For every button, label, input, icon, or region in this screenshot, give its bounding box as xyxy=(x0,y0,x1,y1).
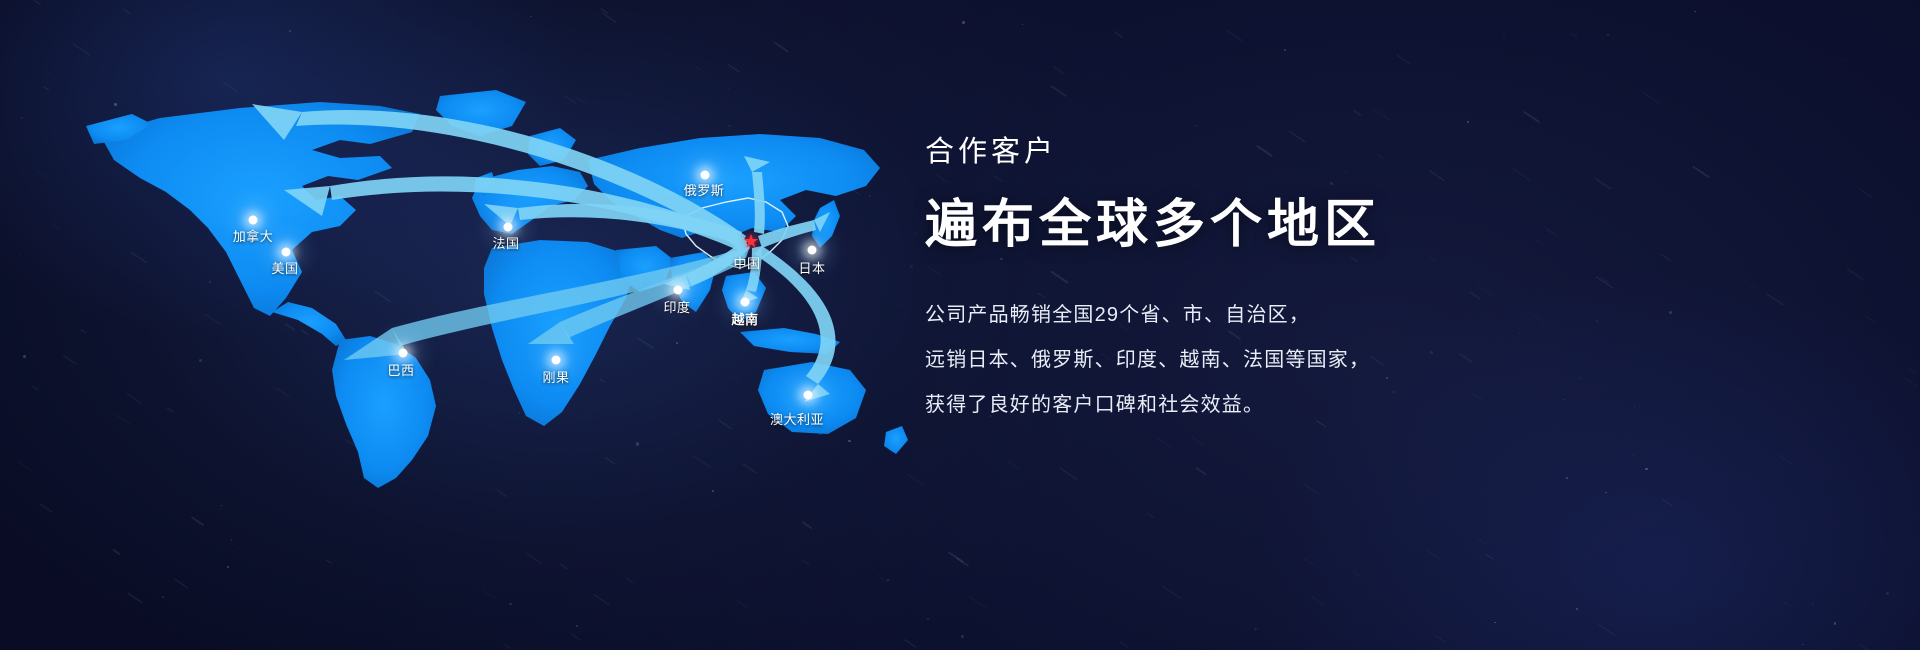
map-label-china: 中国 xyxy=(733,253,760,272)
page-title: 遍布全球多个地区 xyxy=(925,182,1825,257)
star-streak xyxy=(1053,65,1065,74)
star-streak xyxy=(737,600,749,609)
map-label-canada: 加拿大 xyxy=(233,226,274,245)
map-label-russia: 俄罗斯 xyxy=(684,180,725,199)
map-marker-france xyxy=(504,223,513,232)
star-dot xyxy=(1196,125,1197,126)
map-label-usa: 美国 xyxy=(271,258,298,277)
star-streak xyxy=(1163,586,1182,599)
star-streak xyxy=(600,8,608,15)
star-streak xyxy=(876,574,889,583)
description-paragraph: 公司产品畅销全国29个省、市、自治区，远销日本、俄罗斯、印度、越南、法国等国家，… xyxy=(925,301,1825,420)
world-map-svg xyxy=(40,40,940,560)
star-dot xyxy=(1607,34,1609,36)
star-streak xyxy=(955,557,969,567)
star-streak xyxy=(358,641,364,646)
star-streak xyxy=(802,560,809,565)
star-streak xyxy=(1050,85,1067,97)
star-streak xyxy=(483,591,495,600)
star-streak xyxy=(571,634,580,641)
star-dot xyxy=(227,566,228,567)
star-dot xyxy=(927,618,929,620)
star-dot xyxy=(962,21,965,24)
star-dot xyxy=(1284,49,1286,51)
map-marker-brazil xyxy=(399,349,408,358)
map-label-brazil: 巴西 xyxy=(387,360,414,379)
star-dot xyxy=(509,603,512,606)
world-map: 加拿大美国巴西法国俄罗斯刚果印度★中国日本越南澳大利亚 xyxy=(40,40,940,560)
star-dot xyxy=(23,355,26,358)
map-marker-usa xyxy=(282,248,291,257)
star-dot xyxy=(162,596,164,598)
map-marker-india xyxy=(674,286,683,295)
description-line: 获得了良好的客户口碑和社会效益。 xyxy=(925,391,1825,420)
star-streak xyxy=(1372,109,1391,123)
map-marker-canada xyxy=(249,216,258,225)
star-streak xyxy=(174,579,188,589)
star-streak xyxy=(16,460,32,472)
star-streak xyxy=(1396,54,1411,64)
star-streak xyxy=(1118,641,1128,648)
star-dot xyxy=(1503,34,1504,35)
star-streak xyxy=(1840,59,1846,64)
star-streak xyxy=(626,578,634,584)
map-label-congo: 刚果 xyxy=(542,367,569,386)
map-label-vietnam: 越南 xyxy=(731,309,758,328)
star-streak xyxy=(32,386,39,391)
star-dot xyxy=(576,625,578,627)
map-marker-vietnam xyxy=(741,298,750,307)
continents xyxy=(86,90,908,488)
star-streak xyxy=(1196,467,1207,475)
star-streak xyxy=(1227,30,1243,41)
star-streak xyxy=(968,595,987,608)
star-streak xyxy=(1006,459,1021,470)
star-streak xyxy=(1059,468,1077,480)
global-clients-banner: 加拿大美国巴西法国俄罗斯刚果印度★中国日本越南澳大利亚 合作客户 遍布全球多个地… xyxy=(0,0,1920,650)
map-label-france: 法国 xyxy=(492,233,519,252)
star-dot xyxy=(887,579,889,581)
star-streak xyxy=(593,594,609,605)
star-streak xyxy=(1192,436,1205,446)
star-streak xyxy=(1114,31,1123,38)
description-line: 远销日本、俄罗斯、印度、越南、法国等国家， xyxy=(925,346,1825,375)
map-marker-congo xyxy=(552,356,561,365)
star-streak xyxy=(1572,33,1578,38)
map-marker-australia xyxy=(804,391,813,400)
star-streak xyxy=(560,563,568,569)
star-dot xyxy=(1694,11,1696,13)
eyebrow-title: 合作客户 xyxy=(925,128,1825,170)
star-streak xyxy=(1859,189,1873,199)
star-streak xyxy=(1523,110,1540,122)
map-marker-china-star: ★ xyxy=(742,233,759,252)
description-line: 公司产品畅销全国29个省、市、自治区， xyxy=(925,301,1825,330)
star-dot xyxy=(961,635,964,638)
star-streak xyxy=(127,592,143,604)
star-streak xyxy=(904,639,917,648)
star-streak xyxy=(504,644,510,649)
map-label-japan: 日本 xyxy=(798,258,825,277)
copy-block: 合作客户 遍布全球多个地区 公司产品畅销全国29个省、市、自治区，远销日本、俄罗… xyxy=(925,128,1825,436)
star-streak xyxy=(947,552,963,563)
star-streak xyxy=(1353,110,1361,117)
map-marker-russia xyxy=(701,171,710,180)
star-streak xyxy=(1642,91,1660,104)
star-dot xyxy=(1467,121,1469,123)
star-streak xyxy=(602,12,618,23)
star-streak xyxy=(1157,437,1172,448)
map-label-australia: 澳大利亚 xyxy=(770,409,824,428)
map-label-india: 印度 xyxy=(663,297,690,316)
star-streak xyxy=(1147,512,1155,518)
star-dot xyxy=(1022,24,1023,25)
map-marker-japan xyxy=(808,246,817,255)
